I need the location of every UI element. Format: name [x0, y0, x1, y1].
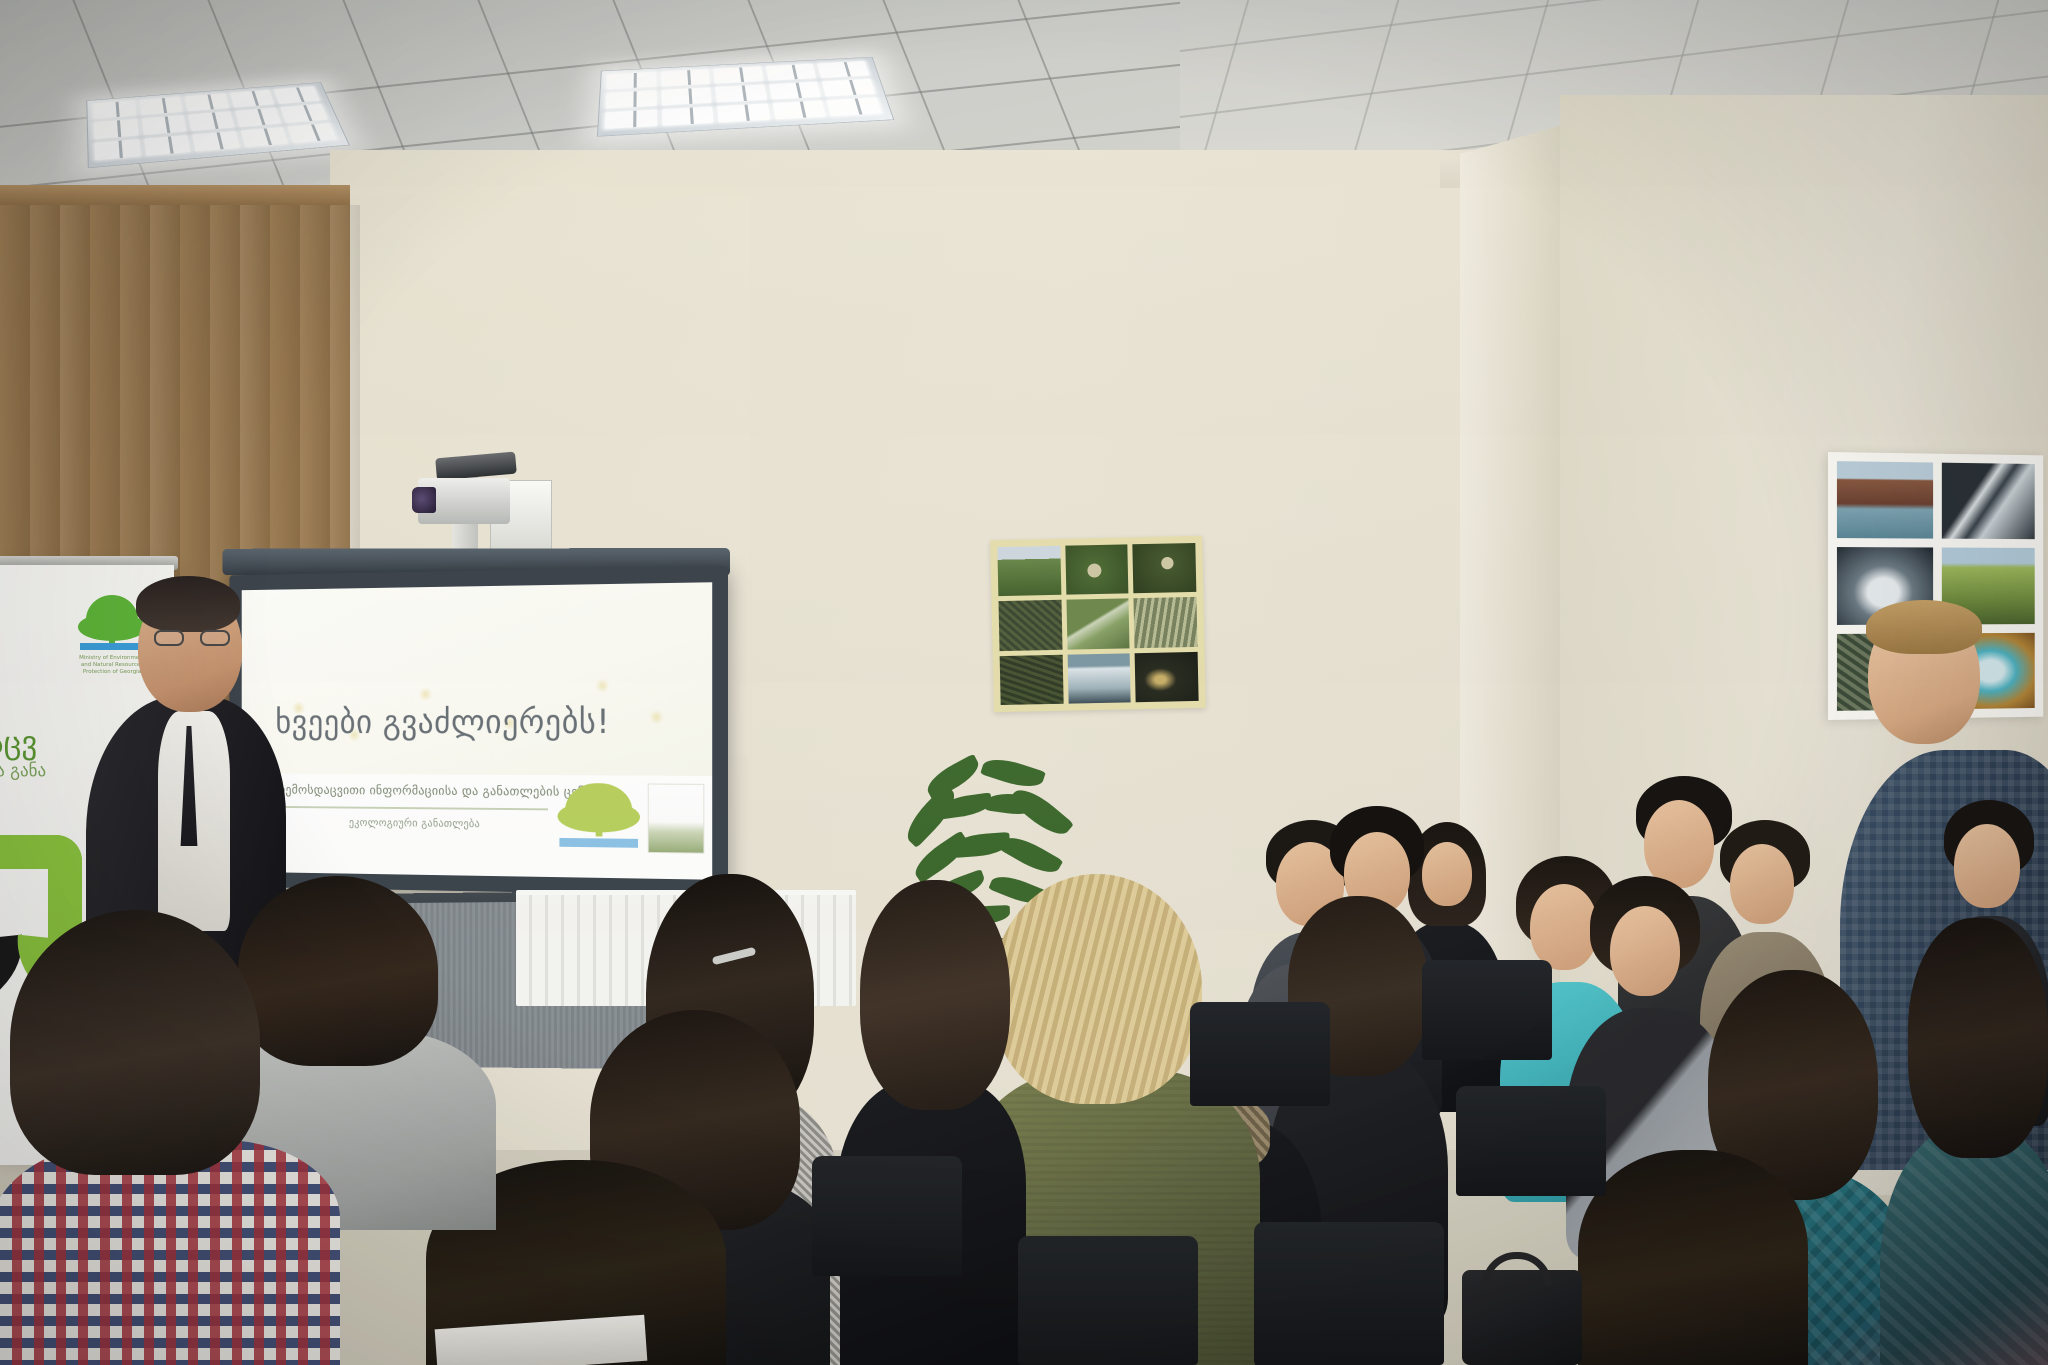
nature-photo-poster — [990, 536, 1206, 712]
attendee-head — [1954, 824, 2020, 908]
chair — [1422, 960, 1552, 1060]
projector-lens-icon — [412, 487, 436, 513]
standing-attendee-hair — [1866, 600, 1982, 654]
chair — [1190, 1002, 1330, 1106]
slide-footer-line-2: ეკოლოგიური განათლება — [349, 816, 480, 830]
poster-photo — [1000, 654, 1064, 705]
poster-photo — [1065, 544, 1129, 595]
poster-photo — [1067, 653, 1131, 704]
poster-photo — [1133, 543, 1197, 594]
conference-room-photo: Ministry of Environment and Natural Reso… — [0, 0, 2048, 1365]
handbag-handle — [1482, 1252, 1552, 1286]
attendee-torso — [1880, 1126, 2048, 1365]
attendee-right-bottom — [1578, 1150, 1808, 1365]
attendee-head — [1610, 906, 1680, 996]
panel-photo — [1941, 463, 2034, 540]
slide-headline: ხვეები გვაძლიერებს! — [275, 702, 696, 742]
attendee-hair — [1908, 918, 2048, 1158]
attendee-dark-long-hair-left — [886, 876, 1036, 1176]
presenter-hair — [136, 576, 240, 632]
attendee-checked-shirt — [0, 910, 340, 1365]
slide-footer-rule — [261, 806, 548, 811]
panel-photo — [1837, 461, 1933, 539]
poster-photo — [999, 600, 1063, 651]
poster-photo — [997, 546, 1061, 597]
slide-photo-thumbnail — [648, 784, 705, 854]
slide-tree-logo-icon — [558, 781, 640, 857]
chair — [812, 1156, 962, 1276]
attendee-hair — [1578, 1150, 1808, 1365]
interactive-whiteboard[interactable]: ხვეები გვაძლიერებს! გარემოსდაცვითი ინფორ… — [229, 566, 728, 896]
poster-photo — [1134, 597, 1198, 648]
attendee-hair — [10, 910, 260, 1175]
slide-footer: გარემოსდაცვითი ინფორმაციისა და განათლები… — [242, 774, 713, 880]
poster-photo — [1135, 652, 1199, 703]
poster-photo — [1066, 599, 1130, 650]
chair — [1456, 1086, 1606, 1196]
chair — [1254, 1222, 1444, 1365]
attendee-dark-bun — [1880, 918, 2048, 1365]
attendee-head — [1730, 844, 1794, 924]
chair — [1018, 1236, 1198, 1365]
projection-surface: ხვეები გვაძლიერებს! გარემოსდაცვითი ინფორ… — [242, 582, 713, 879]
eyeglasses-icon — [154, 630, 236, 646]
